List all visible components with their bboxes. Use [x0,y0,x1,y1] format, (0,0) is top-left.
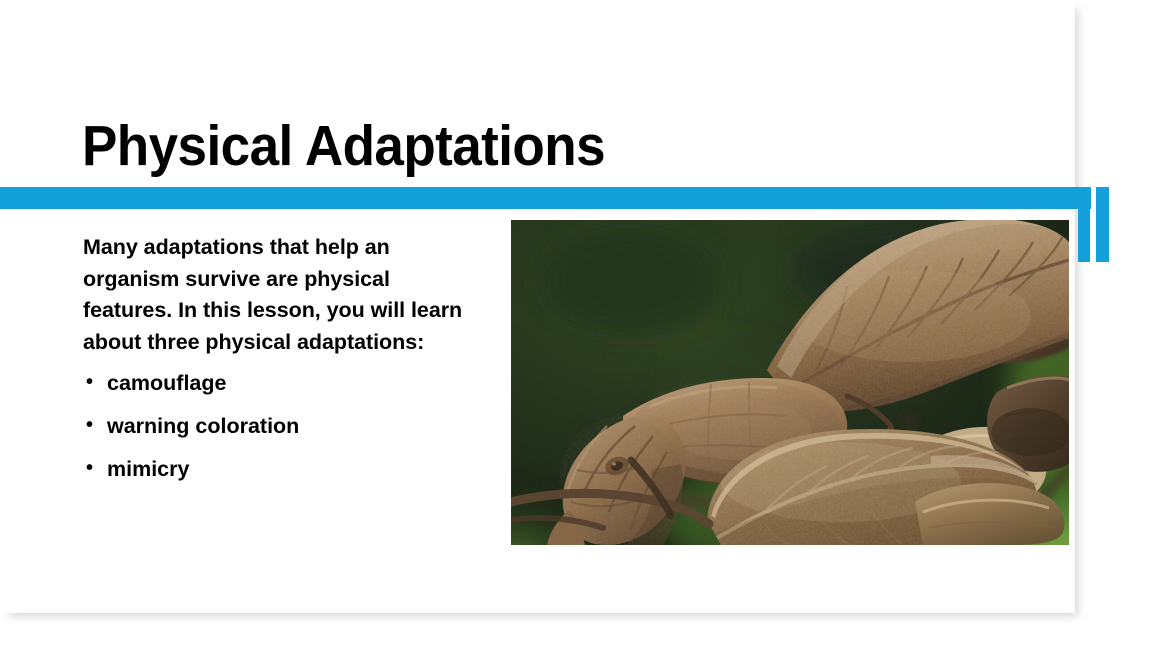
body-paragraph: Many adaptations that help an organism s… [83,232,483,358]
leaf-tailed-gecko-photo [511,220,1069,545]
list-item: camouflage [83,372,483,394]
photo-illustration [511,220,1069,545]
adaptation-bullet-list: camouflage warning coloration mimicry [83,372,483,480]
body-content: Many adaptations that help an organism s… [83,232,483,501]
list-item-label: mimicry [107,457,189,481]
list-item: warning coloration [83,415,483,437]
slide-root: Physical Adaptations Many adaptations th… [0,0,1152,648]
accent-tick-outer [1096,187,1109,262]
page-title: Physical Adaptations [82,116,900,178]
list-item-label: camouflage [107,371,226,395]
list-item: mimicry [83,458,483,480]
list-item-label: warning coloration [107,414,299,438]
slide-surface: Physical Adaptations Many adaptations th… [0,0,1075,613]
accent-rule [0,187,1090,209]
